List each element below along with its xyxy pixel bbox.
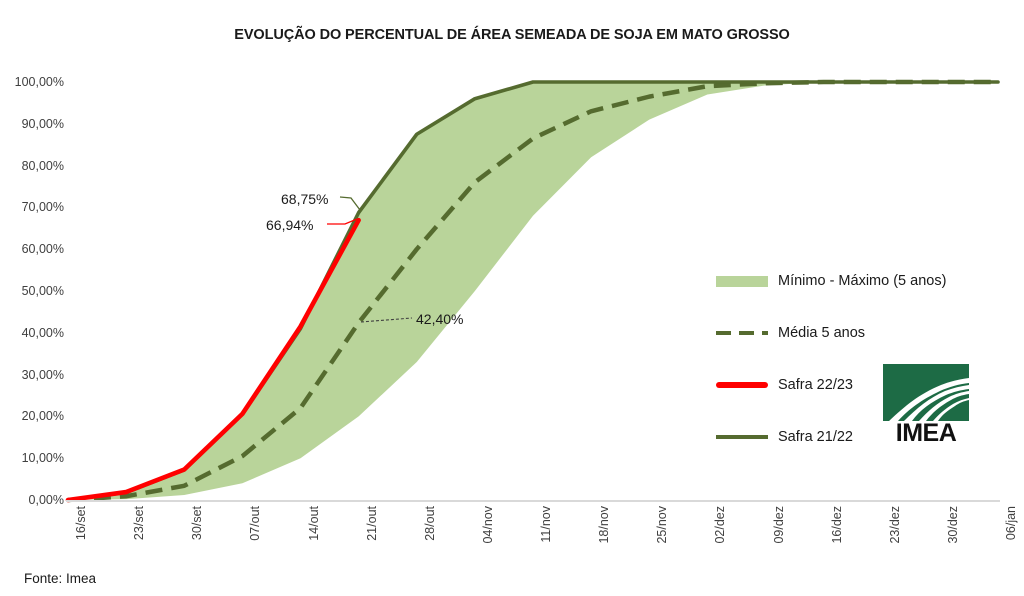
y-axis-tick-label: 90,00% — [2, 117, 64, 131]
legend-item-safra-22-23[interactable]: Safra 22/23 — [716, 374, 853, 396]
y-axis-tick-label: 40,00% — [2, 326, 64, 340]
solid-red-line-swatch-icon — [716, 378, 768, 392]
x-axis-tick-label: 11/nov — [539, 506, 553, 543]
x-axis-tick-label: 07/out — [248, 506, 262, 541]
x-axis-tick-label: 25/nov — [655, 506, 669, 544]
y-axis-tick-label: 100,00% — [2, 75, 64, 89]
x-axis-tick-label: 30/set — [190, 506, 204, 540]
y-axis-tick-label: 80,00% — [2, 159, 64, 173]
band-swatch-icon — [716, 274, 768, 288]
x-axis-tick-label: 28/out — [423, 506, 437, 541]
imea-furrow-icon — [883, 364, 969, 421]
y-axis-tick-label: 30,00% — [2, 368, 64, 382]
legend-item-safra-21-22[interactable]: Safra 21/22 — [716, 426, 853, 448]
x-axis-tick-label: 23/set — [132, 506, 146, 540]
x-axis-tick-label: 16/dez — [830, 506, 844, 544]
data-label-42-40: 42,40% — [416, 311, 463, 327]
legend-label-safra-21-22: Safra 21/22 — [778, 429, 853, 445]
legend-label-media-5-anos: Média 5 anos — [778, 325, 865, 341]
x-axis-tick-label: 16/set — [74, 506, 88, 540]
x-axis-tick-label: 21/out — [365, 506, 379, 541]
x-axis-tick-label: 30/dez — [946, 506, 960, 544]
x-axis-tick-label: 06/jan — [1004, 506, 1018, 540]
y-axis-tick-label: 10,00% — [2, 451, 64, 465]
x-axis-tick-label: 04/nov — [481, 506, 495, 544]
x-axis-tick-label: 14/out — [307, 506, 321, 541]
x-axis-line — [66, 500, 1000, 502]
data-label-68-75: 68,75% — [281, 191, 328, 207]
solid-green-line-swatch-icon — [716, 430, 768, 444]
y-axis-tick-label: 0,00% — [2, 493, 64, 507]
y-axis-tick-label: 60,00% — [2, 242, 64, 256]
chart-container: EVOLUÇÃO DO PERCENTUAL DE ÁREA SEMEADA D… — [0, 0, 1024, 596]
source-note: Fonte: Imea — [24, 571, 96, 586]
legend-item-minimo-maximo[interactable]: Mínimo - Máximo (5 anos) — [716, 270, 946, 292]
data-label-66-94: 66,94% — [266, 217, 313, 233]
x-axis-tick-label: 18/nov — [597, 506, 611, 544]
x-axis-tick-label: 02/dez — [713, 506, 727, 544]
y-axis-labels: 100,00%90,00%80,00%70,00%60,00%50,00%40,… — [0, 0, 64, 596]
dashed-line-swatch-icon — [716, 326, 768, 340]
legend-label-minimo-maximo: Mínimo - Máximo (5 anos) — [778, 273, 946, 289]
imea-logo-text: IMEA — [883, 419, 969, 447]
x-axis-tick-label: 23/dez — [888, 506, 902, 544]
y-axis-tick-label: 70,00% — [2, 200, 64, 214]
chart-title: EVOLUÇÃO DO PERCENTUAL DE ÁREA SEMEADA D… — [0, 27, 1024, 43]
y-axis-tick-label: 20,00% — [2, 409, 64, 423]
legend-label-safra-22-23: Safra 22/23 — [778, 377, 853, 393]
y-axis-tick-label: 50,00% — [2, 284, 64, 298]
x-axis-labels: 16/set23/set30/set07/out14/out21/out28/o… — [68, 506, 998, 576]
x-axis-tick-label: 09/dez — [772, 506, 786, 544]
imea-logo: IMEA — [883, 364, 969, 448]
legend-item-media-5-anos[interactable]: Média 5 anos — [716, 322, 865, 344]
